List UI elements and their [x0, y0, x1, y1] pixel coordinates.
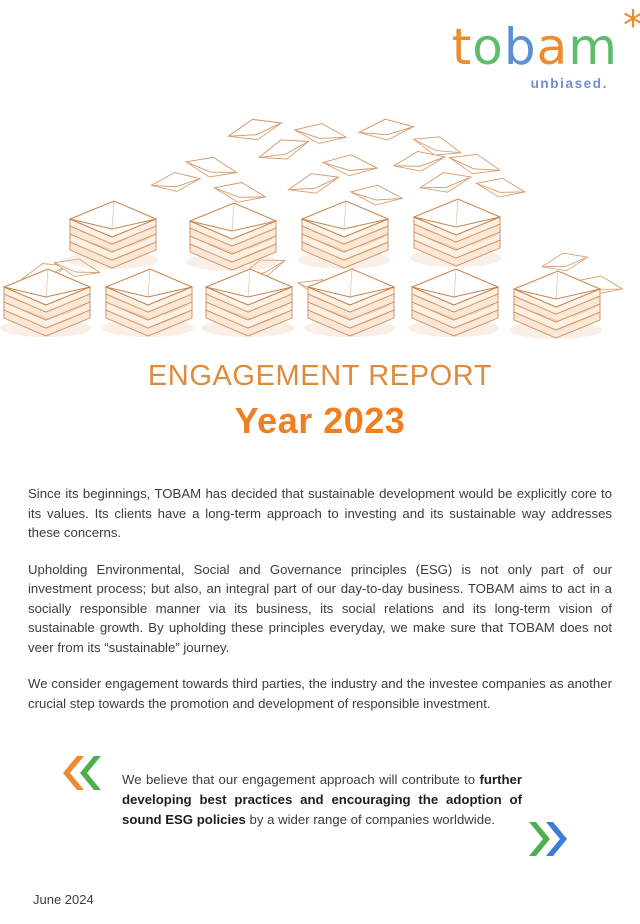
- double-chevron-left-icon: [58, 754, 102, 792]
- quote-text: We believe that our engagement approach …: [122, 770, 522, 830]
- page-subtitle-year: Year 2023: [0, 400, 640, 442]
- logo-letter-b: b: [504, 22, 537, 72]
- logo-letter-o: o: [472, 22, 504, 72]
- asterisk-icon: *: [623, 6, 640, 46]
- logo-letter-a: a: [537, 22, 569, 72]
- quote-tail: by a wider range of companies worldwide.: [246, 812, 495, 827]
- double-chevron-right-icon: [528, 820, 572, 858]
- brand-logo: tobam* unbiased.: [408, 22, 618, 91]
- logo-tagline: unbiased.: [408, 76, 608, 91]
- paragraph-2: Upholding Environmental, Social and Gove…: [28, 560, 612, 658]
- logo-wordmark: tobam*: [452, 22, 618, 72]
- page-title: ENGAGEMENT REPORT: [0, 360, 640, 393]
- quote-lead: We believe that our engagement approach …: [122, 772, 480, 787]
- logo-letter-t: t: [452, 22, 473, 72]
- paragraph-1: Since its beginnings, TOBAM has decided …: [28, 484, 612, 543]
- logo-letter-m: m: [568, 22, 618, 72]
- highlight-quote-block: We believe that our engagement approach …: [0, 748, 640, 873]
- paragraph-3: We consider engagement towards third par…: [28, 674, 612, 713]
- footer-date: June 2024: [33, 892, 94, 907]
- intro-body: Since its beginnings, TOBAM has decided …: [28, 484, 612, 713]
- envelope-stacks-illustration: [0, 118, 640, 346]
